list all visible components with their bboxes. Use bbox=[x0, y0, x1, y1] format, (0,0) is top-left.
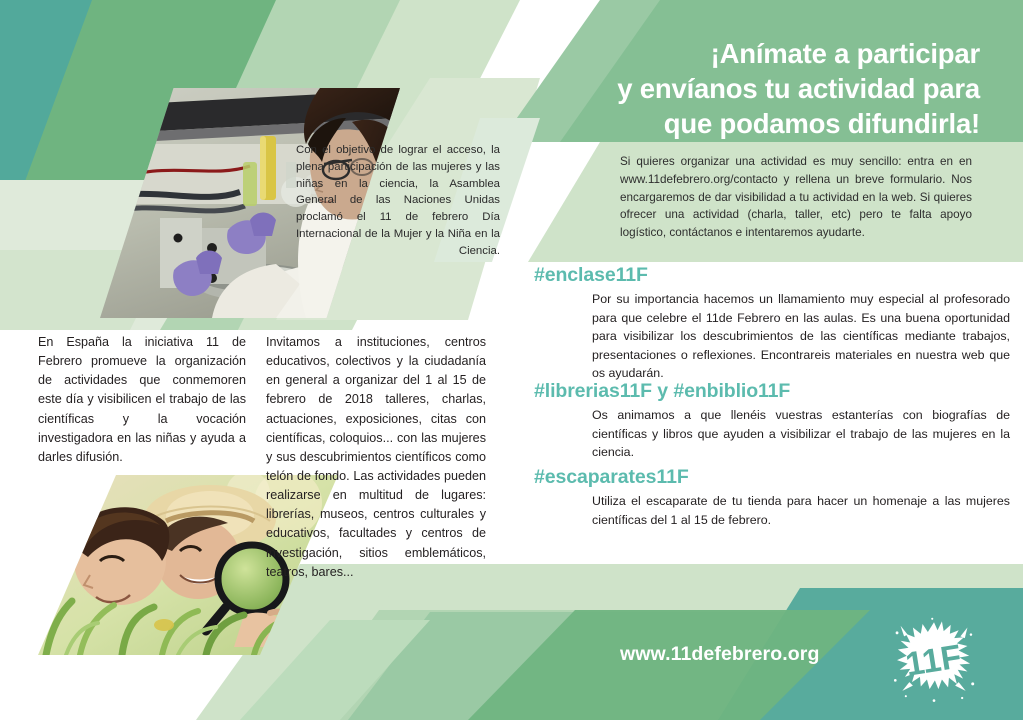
poster-canvas: Con el objetivo de lograr el acceso, la … bbox=[0, 0, 1023, 720]
hashtag-body: Utiliza el escaparate de tu tienda para … bbox=[592, 492, 1010, 529]
hashtag-section-escaparates11f: #escaparates11F Utiliza el escaparate de… bbox=[534, 466, 1014, 529]
hashtag-label[interactable]: #enclase11F bbox=[534, 264, 1014, 287]
headline-line-1: ¡Anímate a participar bbox=[560, 36, 980, 71]
hashtag-label[interactable]: #escaparates11F bbox=[534, 466, 1014, 489]
column-middle-text: Invitamos a instituciones, centros educa… bbox=[266, 333, 486, 582]
intro-statement-text: Con el objetivo de lograr el acceso, la … bbox=[296, 142, 500, 259]
column-left-text: En España la iniciativa 11 de Febrero pr… bbox=[38, 333, 246, 467]
hashtag-body: Por su importancia hacemos un llamamient… bbox=[592, 290, 1010, 383]
lead-paragraph: Si quieres organizar una actividad es mu… bbox=[620, 153, 972, 242]
headline-line-2: y envíanos tu actividad para bbox=[560, 71, 980, 106]
website-url[interactable]: www.11defebrero.org bbox=[620, 643, 819, 666]
page-title: ¡Anímate a participar y envíanos tu acti… bbox=[560, 36, 980, 142]
headline-line-3: que podamos difundirla! bbox=[560, 106, 980, 141]
hashtag-section-enclase11f: #enclase11F Por su importancia hacemos u… bbox=[534, 264, 1014, 383]
hashtag-body: Os animamos a que llenéis vuestras estan… bbox=[592, 406, 1010, 462]
logo-11f[interactable]: 11F bbox=[890, 617, 978, 705]
intro-statement: Con el objetivo de lograr el acceso, la … bbox=[262, 142, 500, 308]
hashtag-section-librerias11f: #librerias11F y #enbiblio11F Os animamos… bbox=[534, 380, 1014, 462]
hashtag-label[interactable]: #librerias11F y #enbiblio11F bbox=[534, 380, 1014, 403]
